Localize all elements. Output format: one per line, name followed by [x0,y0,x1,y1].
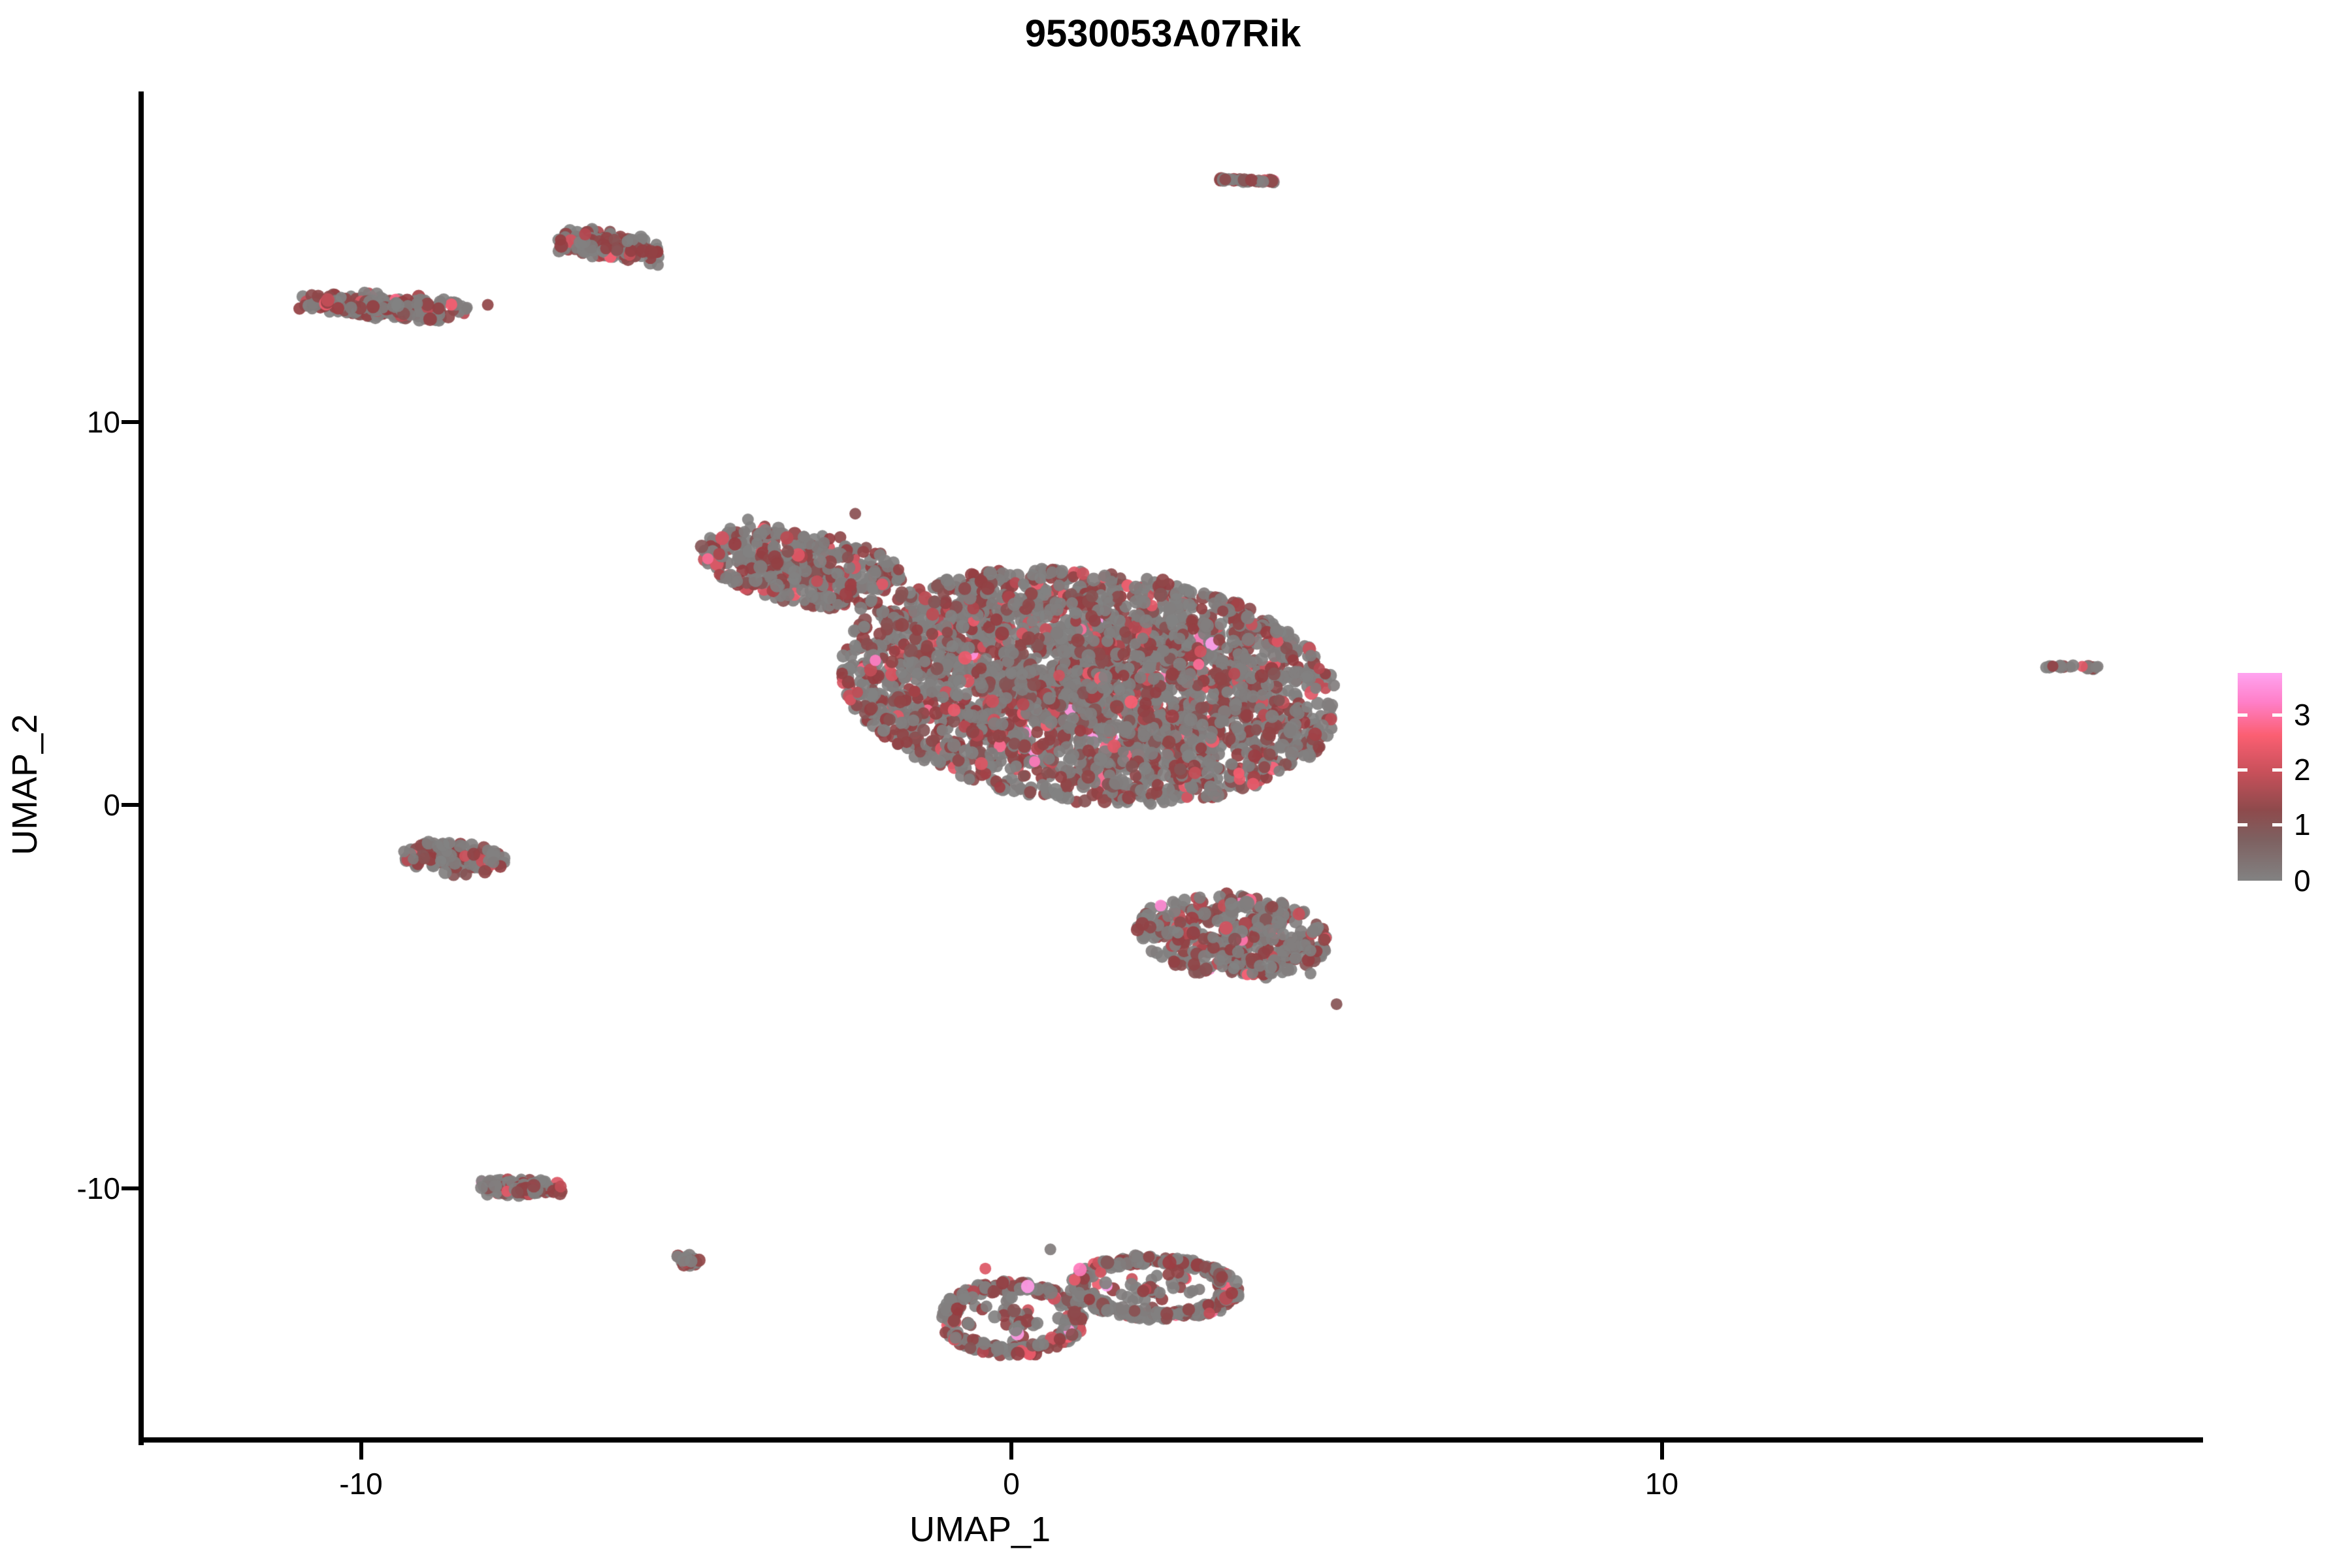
x-tick-label: -10 [339,1466,382,1501]
legend-tick-mark [2272,768,2282,772]
y-tick-label: 0 [103,787,120,823]
y-tick-mark [122,803,139,807]
legend-tick-label: 3 [2294,697,2311,732]
x-axis-line [139,1437,2203,1443]
color-legend: 3210 [2238,673,2282,881]
y-axis-label: UMAP_2 [5,589,45,981]
legend-tick-label: 0 [2294,863,2311,898]
legend-tick-label: 2 [2294,752,2311,787]
y-tick-label: -10 [77,1171,120,1206]
legend-tick-mark [2238,713,2247,717]
umap-feature-plot: 9530053A07Rik -10010100-10 UMAP_2 UMAP_1… [0,0,2352,1568]
legend-tick-mark [2238,768,2247,772]
y-tick-mark [122,1186,139,1190]
x-tick-label: 0 [1003,1466,1020,1501]
legend-tick-mark [2238,823,2247,826]
legend-tick-mark [2272,823,2282,826]
x-tick-mark [1660,1443,1664,1460]
y-tick-mark [122,420,139,424]
legend-tick-mark [2272,713,2282,717]
x-tick-label: 10 [1645,1466,1678,1501]
legend-tick-label: 1 [2294,807,2311,842]
y-axis-line [139,91,144,1445]
y-tick-label: 10 [87,404,120,440]
x-tick-mark [359,1443,363,1460]
legend-colorbar [2238,673,2282,881]
x-axis-label: UMAP_1 [784,1509,1176,1550]
x-tick-mark [1009,1443,1013,1460]
scatter-canvas [0,0,2352,1568]
